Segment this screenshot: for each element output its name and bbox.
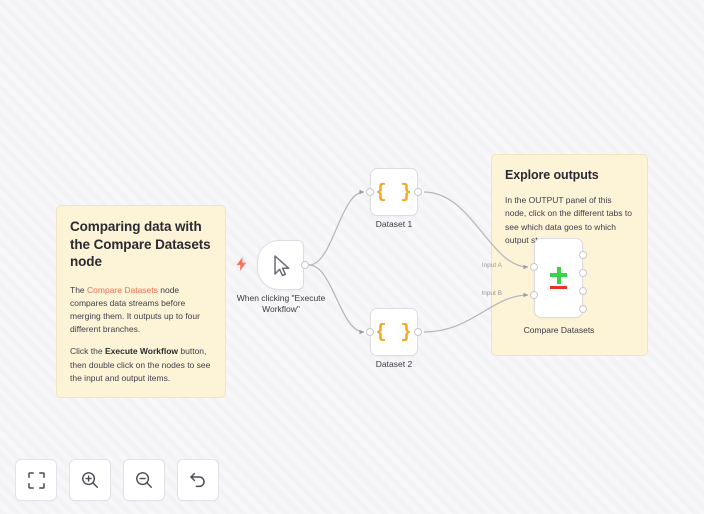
node-manual-trigger[interactable] <box>257 240 304 290</box>
compare-input-port-a[interactable] <box>530 263 538 271</box>
compare-input-a-label: Input A <box>460 262 502 269</box>
dataset1-output-port[interactable] <box>414 188 422 196</box>
fit-to-view-icon <box>28 472 45 489</box>
reset-zoom-button[interactable] <box>177 459 219 501</box>
execute-workflow-emphasis: Execute Workflow <box>105 346 178 356</box>
dataset1-input-port[interactable] <box>366 188 374 196</box>
compare-output-port-3[interactable] <box>579 287 587 295</box>
compare-datasets-link[interactable]: Compare Datasets <box>87 285 158 295</box>
sticky-note-paragraph-2: Click the Execute Workflow button, then … <box>70 345 212 385</box>
undo-arrow-icon <box>189 471 207 489</box>
curly-braces-icon: { } <box>371 169 417 215</box>
node-label-compare-datasets: Compare Datasets <box>508 325 610 336</box>
node-label-manual-trigger: When clicking "Execute Workflow" <box>219 293 343 316</box>
lightning-bolt-icon <box>236 257 247 276</box>
sticky-note-comparing-data[interactable]: Comparing data with the Compare Datasets… <box>56 205 226 398</box>
zoom-out-button[interactable] <box>123 459 165 501</box>
zoom-in-icon <box>81 471 99 489</box>
zoom-in-button[interactable] <box>69 459 111 501</box>
compare-input-b-label: Input B <box>460 290 502 297</box>
compare-output-port-1[interactable] <box>579 251 587 259</box>
zoom-to-fit-button[interactable] <box>15 459 57 501</box>
node-dataset-1[interactable]: { } <box>370 168 418 216</box>
compare-input-port-b[interactable] <box>530 291 538 299</box>
canvas-toolbar <box>15 459 219 501</box>
para1-pre: The <box>70 285 87 295</box>
node-dataset-2[interactable]: { } <box>370 308 418 356</box>
curly-braces-icon: { } <box>371 309 417 355</box>
workflow-canvas[interactable]: Explore outputs In the OUTPUT panel of t… <box>0 0 704 514</box>
dataset2-input-port[interactable] <box>366 328 374 336</box>
cursor-pointer-icon <box>272 254 292 283</box>
dataset2-output-port[interactable] <box>414 328 422 336</box>
compare-output-port-2[interactable] <box>579 269 587 277</box>
node-compare-datasets[interactable] <box>534 238 583 318</box>
trigger-output-port[interactable] <box>301 261 309 269</box>
node-label-dataset-1: Dataset 1 <box>344 219 444 230</box>
sticky-note-title: Comparing data with the Compare Datasets… <box>70 218 212 271</box>
plus-minus-icon <box>535 239 582 317</box>
sticky-note-title: Explore outputs <box>505 167 634 183</box>
node-label-dataset-2: Dataset 2 <box>344 359 444 370</box>
para2-pre: Click the <box>70 346 105 356</box>
compare-output-port-4[interactable] <box>579 305 587 313</box>
zoom-out-icon <box>135 471 153 489</box>
minus-glyph <box>550 286 567 290</box>
sticky-note-paragraph-1: The Compare Datasets node compares data … <box>70 284 212 337</box>
plus-glyph <box>550 267 567 284</box>
